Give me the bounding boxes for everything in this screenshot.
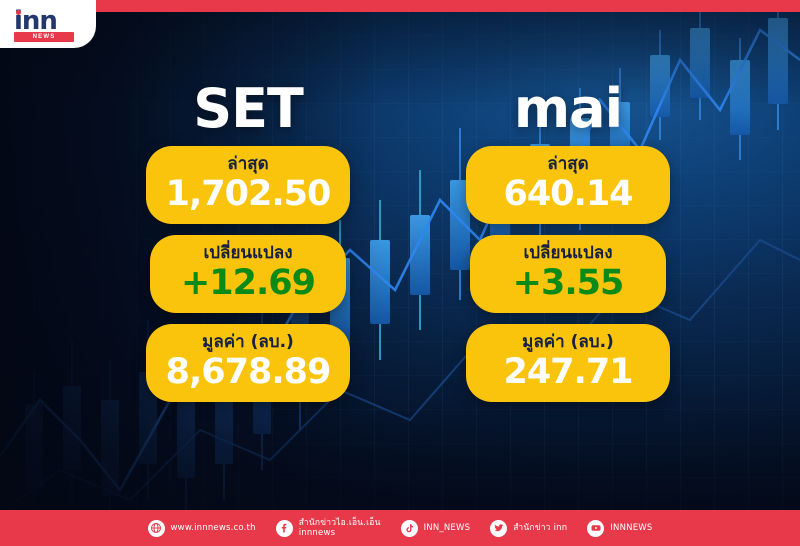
footer-label: INNNEWS (610, 523, 652, 533)
footer-item-website[interactable]: www.innnews.co.th (148, 520, 256, 537)
card-value: 640.14 (503, 174, 632, 214)
card-label: เปลี่ยนแปลง (523, 243, 612, 263)
tiktok-icon (401, 520, 418, 537)
card-label: ล่าสุด (547, 154, 588, 174)
card-mai-value: มูลค่า (ลบ.) 247.71 (466, 324, 670, 402)
facebook-icon (276, 520, 293, 537)
index-cards-set: ล่าสุด 1,702.50 เปลี่ยนแปลง +12.69 มูลค่… (130, 146, 366, 402)
card-set-change: เปลี่ยนแปลง +12.69 (150, 235, 346, 313)
card-set-value: มูลค่า (ลบ.) 8,678.89 (146, 324, 350, 402)
logo-dot-icon (16, 10, 21, 15)
card-label: มูลค่า (ลบ.) (522, 332, 614, 352)
footer-label: สำนักข่าวไอ.เอ็น.เอ็น innnews (299, 518, 381, 538)
card-value: 247.71 (503, 352, 632, 392)
index-column-mai: mai ล่าสุด 640.14 เปลี่ยนแปลง +3.55 มูลค… (450, 80, 686, 402)
footer-item-youtube[interactable]: INNNEWS (587, 520, 652, 537)
index-cards-mai: ล่าสุด 640.14 เปลี่ยนแปลง +3.55 มูลค่า (… (450, 146, 686, 402)
footer-item-tiktok[interactable]: INN_NEWS (401, 520, 471, 537)
footer-label: www.innnews.co.th (171, 523, 256, 533)
card-value: 1,702.50 (166, 174, 331, 214)
card-mai-latest: ล่าสุด 640.14 (466, 146, 670, 224)
footer-item-twitter[interactable]: สำนักข่าว inn (490, 520, 567, 537)
website-icon (148, 520, 165, 537)
stock-index-graphic: inn NEWS SET ล่าสุด 1,702.50 เปลี่ยนแปลง… (0, 0, 800, 546)
card-label: มูลค่า (ลบ.) (202, 332, 294, 352)
top-red-bar (0, 0, 800, 12)
card-value: +3.55 (513, 263, 624, 303)
twitter-icon (490, 520, 507, 537)
footer-label: INN_NEWS (424, 523, 471, 533)
index-column-set: SET ล่าสุด 1,702.50 เปลี่ยนแปลง +12.69 ม… (130, 80, 366, 402)
inn-logo: inn NEWS (14, 11, 80, 43)
footer-item-facebook[interactable]: สำนักข่าวไอ.เอ็น.เอ็น innnews (276, 518, 381, 538)
logo-wordmark: inn (14, 11, 80, 31)
logo-plate: inn NEWS (0, 0, 96, 48)
footer-label: สำนักข่าว inn (513, 523, 567, 533)
card-label: เปลี่ยนแปลง (203, 243, 292, 263)
footer-social-bar: www.innnews.co.th สำนักข่าวไอ.เอ็น.เอ็น … (0, 510, 800, 546)
card-mai-change: เปลี่ยนแปลง +3.55 (470, 235, 666, 313)
card-value: +12.69 (181, 263, 315, 303)
card-value: 8,678.89 (166, 352, 331, 392)
index-name-set: SET (130, 80, 366, 138)
card-label: ล่าสุด (227, 154, 268, 174)
youtube-icon (587, 520, 604, 537)
index-name-mai: mai (450, 80, 686, 138)
card-set-latest: ล่าสุด 1,702.50 (146, 146, 350, 224)
